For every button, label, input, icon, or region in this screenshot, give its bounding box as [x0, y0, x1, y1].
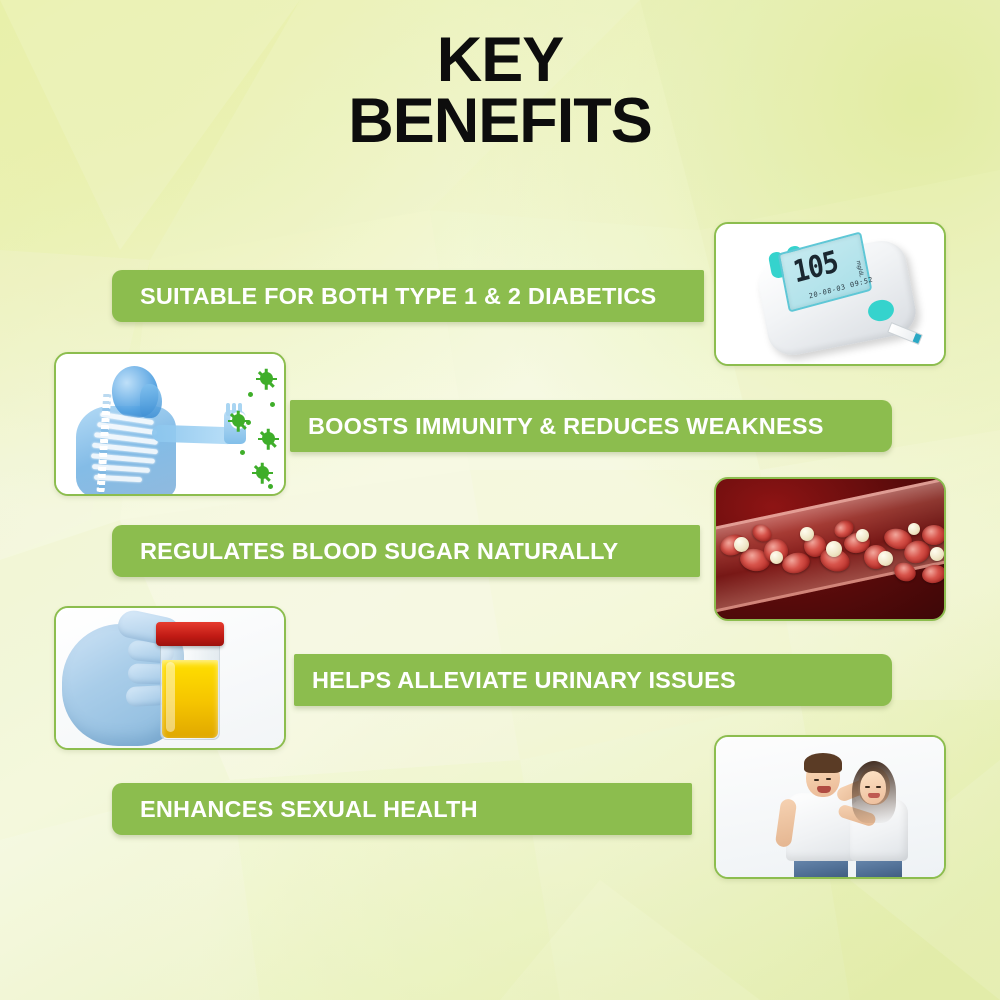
page-title: KEY BENEFITS [0, 30, 1000, 152]
man-hair-icon [804, 753, 842, 773]
immunity-body-photo [56, 354, 284, 494]
virus-icon [260, 372, 273, 385]
benefit-image-card-4[interactable] [54, 606, 286, 750]
benefit-bar-2[interactable]: BOOSTS IMMUNITY & REDUCES WEAKNESS [290, 400, 892, 452]
benefit-image-card-3[interactable] [714, 477, 946, 621]
container-red-cap-icon [156, 622, 224, 646]
virus-particle-icon [270, 402, 275, 407]
benefit-row-4: HELPS ALLEVIATE URINARY ISSUES [0, 606, 1000, 756]
benefit-row-5: ENHANCES SEXUAL HEALTH [0, 735, 1000, 885]
blood-vessel-photo [716, 479, 944, 619]
virus-icon [232, 414, 245, 427]
benefit-label-1: SUITABLE FOR BOTH TYPE 1 & 2 DIABETICS [140, 283, 656, 310]
benefit-bar-5[interactable]: ENHANCES SEXUAL HEALTH [112, 783, 692, 835]
benefit-label-3: REGULATES BLOOD SUGAR NATURALLY [140, 538, 618, 565]
title-line-2: BENEFITS [0, 91, 1000, 152]
urine-sample-photo [56, 608, 284, 748]
virus-icon [262, 432, 275, 445]
benefit-label-2: BOOSTS IMMUNITY & REDUCES WEAKNESS [308, 413, 824, 440]
benefit-label-4: HELPS ALLEVIATE URINARY ISSUES [312, 667, 736, 694]
benefit-bar-3[interactable]: REGULATES BLOOD SUGAR NATURALLY [112, 525, 700, 577]
benefit-image-card-5[interactable] [714, 735, 946, 879]
benefit-bar-4[interactable]: HELPS ALLEVIATE URINARY ISSUES [294, 654, 892, 706]
benefit-row-1: SUITABLE FOR BOTH TYPE 1 & 2 DIABETICS 1… [0, 222, 1000, 372]
virus-particle-icon [246, 420, 251, 425]
virus-particle-icon [248, 392, 253, 397]
title-line-1: KEY [0, 30, 1000, 91]
happy-couple-photo [716, 737, 944, 877]
benefit-image-card-2[interactable] [54, 352, 286, 496]
benefit-label-5: ENHANCES SEXUAL HEALTH [140, 796, 478, 823]
benefit-image-card-1[interactable]: 105 mg/dL 20-08-03 09:52 [714, 222, 946, 366]
virus-particle-icon [240, 450, 245, 455]
benefit-row-3: REGULATES BLOOD SUGAR NATURALLY [0, 477, 1000, 627]
glucometer-photo: 105 mg/dL 20-08-03 09:52 [716, 224, 944, 364]
benefit-bar-1[interactable]: SUITABLE FOR BOTH TYPE 1 & 2 DIABETICS [112, 270, 704, 322]
